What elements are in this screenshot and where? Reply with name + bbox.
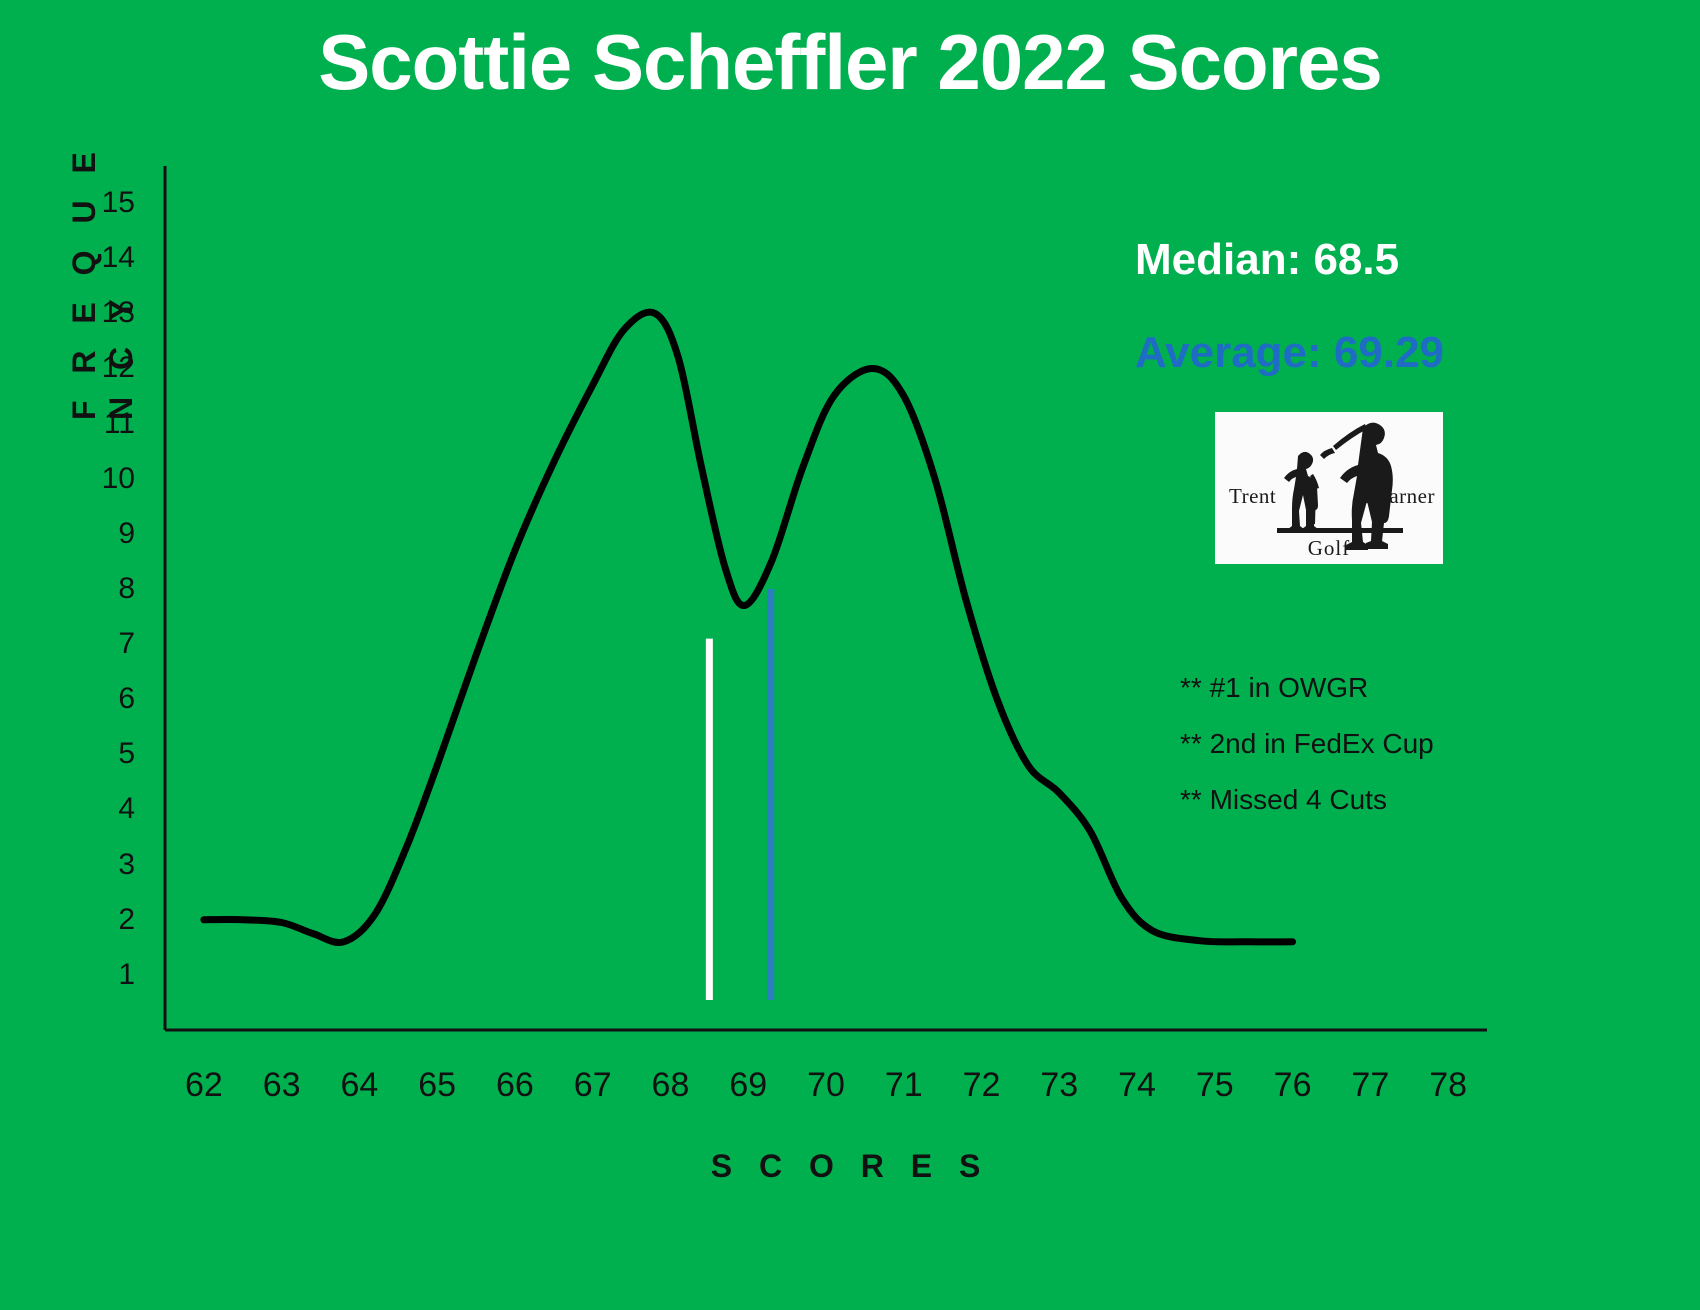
x-axis-tick: 66 [475,1068,555,1102]
note-item: ** #1 in OWGR [1180,660,1600,716]
y-axis-tick: 12 [73,353,135,383]
y-axis-tick: 4 [73,794,135,824]
average-stat: Average: 69.29 [1135,328,1444,378]
brand-logo: Trent Wearner Golf [1215,412,1443,564]
y-axis-tick: 2 [73,905,135,935]
logo-word-wearner: Wearner [1361,484,1435,509]
x-axis-tick: 64 [319,1068,399,1102]
x-axis-tick: 78 [1408,1068,1488,1102]
y-axis-tick: 15 [73,188,135,218]
x-axis-tick: 65 [397,1068,477,1102]
y-axis-tick: 3 [73,850,135,880]
distribution-curve [204,312,1293,942]
x-axis-tick: 63 [242,1068,322,1102]
y-axis-tick: 5 [73,739,135,769]
x-axis-tick: 71 [864,1068,944,1102]
logo-word-trent: Trent [1229,484,1276,509]
y-axis-tick: 7 [73,629,135,659]
x-axis-tick: 72 [942,1068,1022,1102]
x-axis-tick: 62 [164,1068,244,1102]
y-axis-tick: 9 [73,519,135,549]
y-axis-tick: 1 [73,960,135,990]
x-axis-tick: 70 [786,1068,866,1102]
y-axis-tick: 6 [73,684,135,714]
x-axis-tick: 68 [630,1068,710,1102]
x-axis-tick: 69 [708,1068,788,1102]
logo-word-golf: Golf [1215,536,1443,561]
x-axis-tick: 67 [553,1068,633,1102]
chart-canvas: Scottie Scheffler 2022 Scores F R E Q U … [0,0,1700,1310]
y-axis-tick: 8 [73,574,135,604]
y-axis-tick: 11 [73,409,135,439]
note-item: ** Missed 4 Cuts [1180,772,1600,828]
y-axis-tick: 10 [73,464,135,494]
y-axis-tick: 13 [73,298,135,328]
plot-area [0,0,1700,1310]
notes-list: ** #1 in OWGR** 2nd in FedEx Cup** Misse… [1180,660,1600,828]
x-axis-tick: 74 [1097,1068,1177,1102]
x-axis-tick: 75 [1175,1068,1255,1102]
chart-title: Scottie Scheffler 2022 Scores [0,22,1700,104]
median-stat: Median: 68.5 [1135,235,1399,285]
x-axis-tick: 77 [1330,1068,1410,1102]
x-axis-tick: 73 [1019,1068,1099,1102]
y-axis-tick: 14 [73,243,135,273]
note-item: ** 2nd in FedEx Cup [1180,716,1600,772]
x-axis-tick: 76 [1253,1068,1333,1102]
x-axis-label: S C O R E S [0,1148,1700,1185]
